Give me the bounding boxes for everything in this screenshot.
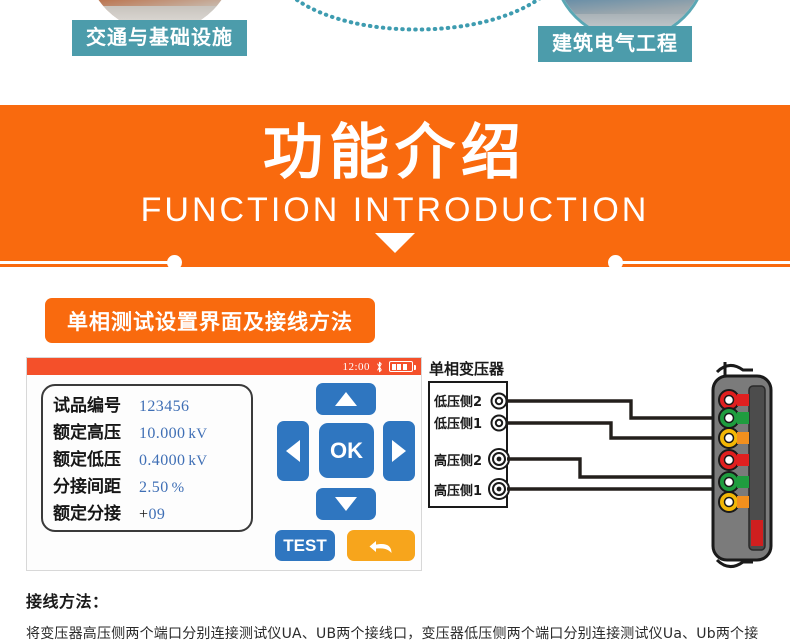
wire-lv1	[507, 423, 715, 438]
up-button[interactable]	[316, 383, 376, 415]
param-label: 分接间距	[53, 472, 139, 497]
banner-title-en: FUNCTION INTRODUCTION	[0, 191, 790, 230]
transformer-terminal-lv2	[492, 394, 507, 409]
tag-building-electrical: 建筑电气工程	[538, 26, 692, 62]
function-introduction-banner: 功能介绍 FUNCTION INTRODUCTION	[0, 105, 790, 267]
param-row[interactable]: 试品编号 123456	[53, 391, 251, 418]
param-row[interactable]: 额定分接 +09	[53, 499, 251, 526]
wire-lv2	[507, 401, 715, 418]
instructions-paragraph: 将变压器高压侧两个端口分别连接测试仪UA、UB两个接线口，变压器低压侧两个端口分…	[26, 625, 770, 644]
wiring-diagram: 单相变压器 低压侧2	[425, 360, 785, 575]
param-label: 额定分接	[53, 499, 139, 524]
param-row[interactable]: 分接间距 2.50%	[53, 472, 251, 499]
back-arrow-icon	[366, 536, 396, 556]
right-arrow-icon	[392, 440, 406, 462]
down-arrow-icon	[335, 497, 357, 511]
left-arrow-icon	[286, 440, 300, 462]
wire-hv2	[507, 459, 715, 477]
test-button[interactable]: TEST	[275, 530, 335, 561]
banner-triangle-icon	[375, 233, 415, 253]
instrument-brand-badge	[751, 520, 763, 546]
left-button[interactable]	[277, 421, 309, 481]
down-button[interactable]	[316, 488, 376, 520]
banner-rule-left	[0, 261, 170, 264]
param-unit: kV	[188, 453, 207, 469]
param-value: 10.000kV	[139, 425, 208, 443]
wiring-instructions: 接线方法： 将变压器高压侧两个端口分别连接测试仪UA、UB两个接线口，变压器低压…	[26, 588, 770, 644]
right-button[interactable]	[383, 421, 415, 481]
lcd-body: 试品编号 123456 额定高压 10.000kV 额定低压 0.4000kV …	[27, 375, 421, 570]
banner-dot-right	[608, 255, 623, 267]
param-unit: kV	[188, 426, 207, 442]
param-value: 123456	[139, 398, 189, 416]
page-root: 交通与基础设施 建筑电气工程 功能介绍 FUNCTION INTRODUCTIO…	[0, 0, 790, 644]
banner-rule-right	[620, 261, 790, 264]
dotted-curve-connector	[295, 0, 545, 42]
terminal-label-lv2: 低压侧2	[433, 394, 482, 410]
wiring-diagram-svg: 低压侧2 低压侧1 高压侧2 高压侧1	[425, 360, 785, 575]
transformer-terminal-lv1	[492, 416, 507, 431]
parameter-panel: 试品编号 123456 额定高压 10.000kV 额定低压 0.4000kV …	[41, 384, 253, 532]
device-lcd-screenshot: 12:00 试品编号 123456 额定高压 10.000kV 额定低压 0.4…	[26, 357, 422, 571]
param-value: +09	[139, 506, 165, 524]
terminal-label-lv1: 低压侧1	[433, 416, 482, 432]
up-arrow-icon	[335, 392, 357, 406]
wire-bundle	[507, 401, 715, 489]
battery-icon	[389, 361, 413, 372]
param-label: 额定低压	[53, 445, 139, 470]
terminal-label-hv2: 高压侧2	[434, 453, 482, 469]
terminal-label-hv1: 高压侧1	[434, 483, 482, 499]
transformer-terminal-hv1	[489, 479, 509, 499]
param-label: 试品编号	[53, 391, 139, 416]
tag-transport-infrastructure: 交通与基础设施	[72, 20, 247, 56]
keypad: OK TEST	[275, 381, 415, 566]
lcd-clock: 12:00	[342, 361, 370, 373]
param-label: 额定高压	[53, 418, 139, 443]
param-row[interactable]: 额定低压 0.4000kV	[53, 445, 251, 472]
param-row[interactable]: 额定高压 10.000kV	[53, 418, 251, 445]
back-button[interactable]	[347, 530, 415, 561]
instructions-heading: 接线方法：	[26, 588, 770, 612]
lcd-status-bar: 12:00	[27, 358, 421, 375]
bluetooth-icon	[375, 361, 384, 373]
banner-title-cn: 功能介绍	[0, 119, 790, 188]
wiring-diagram-title: 单相变压器	[429, 358, 504, 379]
banner-dot-left	[167, 255, 182, 267]
param-unit: %	[172, 480, 185, 496]
transformer-terminal-hv2	[489, 449, 509, 469]
param-value: 0.4000kV	[139, 452, 208, 470]
ok-button[interactable]: OK	[319, 423, 374, 478]
param-value: 2.50%	[139, 479, 185, 497]
top-promo-strip: 交通与基础设施 建筑电气工程	[0, 0, 790, 105]
section-title-pill: 单相测试设置界面及接线方法	[45, 298, 375, 343]
